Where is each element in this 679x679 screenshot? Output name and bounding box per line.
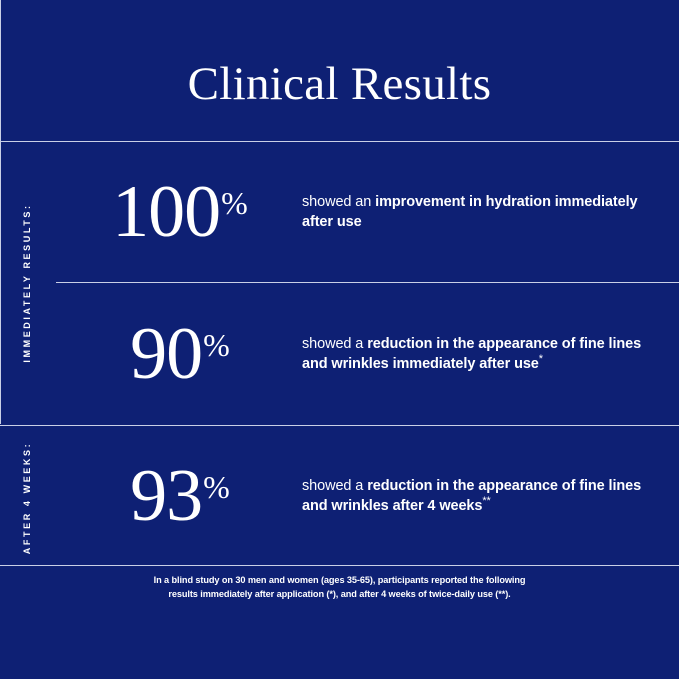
footnote-marker: * xyxy=(539,353,543,365)
footnote-line-1: In a blind study on 30 men and women (ag… xyxy=(0,573,679,587)
side-label-immediate-results: IMMEDIATELY RESULTS: xyxy=(22,203,32,362)
result-description-light: showed a xyxy=(302,478,367,494)
footnote-line-2: results immediately after application (*… xyxy=(0,587,679,601)
result-description-light: showed an xyxy=(302,194,375,210)
divider-bottom xyxy=(0,565,679,566)
percent-sign: % xyxy=(203,327,230,363)
result-row: 93% showed a reduction in the appearance… xyxy=(57,426,679,565)
result-statistic: 100% xyxy=(57,175,302,249)
result-description: showed a reduction in the appearance of … xyxy=(302,334,679,374)
percent-sign: % xyxy=(221,185,248,221)
result-row: 100% showed an improvement in hydration … xyxy=(57,142,679,282)
side-label-after-4-weeks: AFTER 4 WEEKS: xyxy=(22,442,32,554)
page-title: Clinical Results xyxy=(0,56,679,112)
result-number: 90 xyxy=(130,313,202,395)
result-description-light: showed a xyxy=(302,336,367,352)
result-number: 93 xyxy=(130,455,202,537)
result-statistic: 90% xyxy=(57,317,302,391)
result-number: 100 xyxy=(112,171,220,253)
clinical-results-panel: Clinical Results IMMEDIATELY RESULTS: AF… xyxy=(0,0,679,679)
result-row: 90% showed a reduction in the appearance… xyxy=(57,283,679,425)
result-statistic: 93% xyxy=(57,459,302,533)
study-footnote: In a blind study on 30 men and women (ag… xyxy=(0,573,679,601)
percent-sign: % xyxy=(203,469,230,505)
result-description: showed a reduction in the appearance of … xyxy=(302,476,679,516)
footnote-marker: ** xyxy=(482,495,490,507)
result-description: showed an improvement in hydration immed… xyxy=(302,192,679,232)
